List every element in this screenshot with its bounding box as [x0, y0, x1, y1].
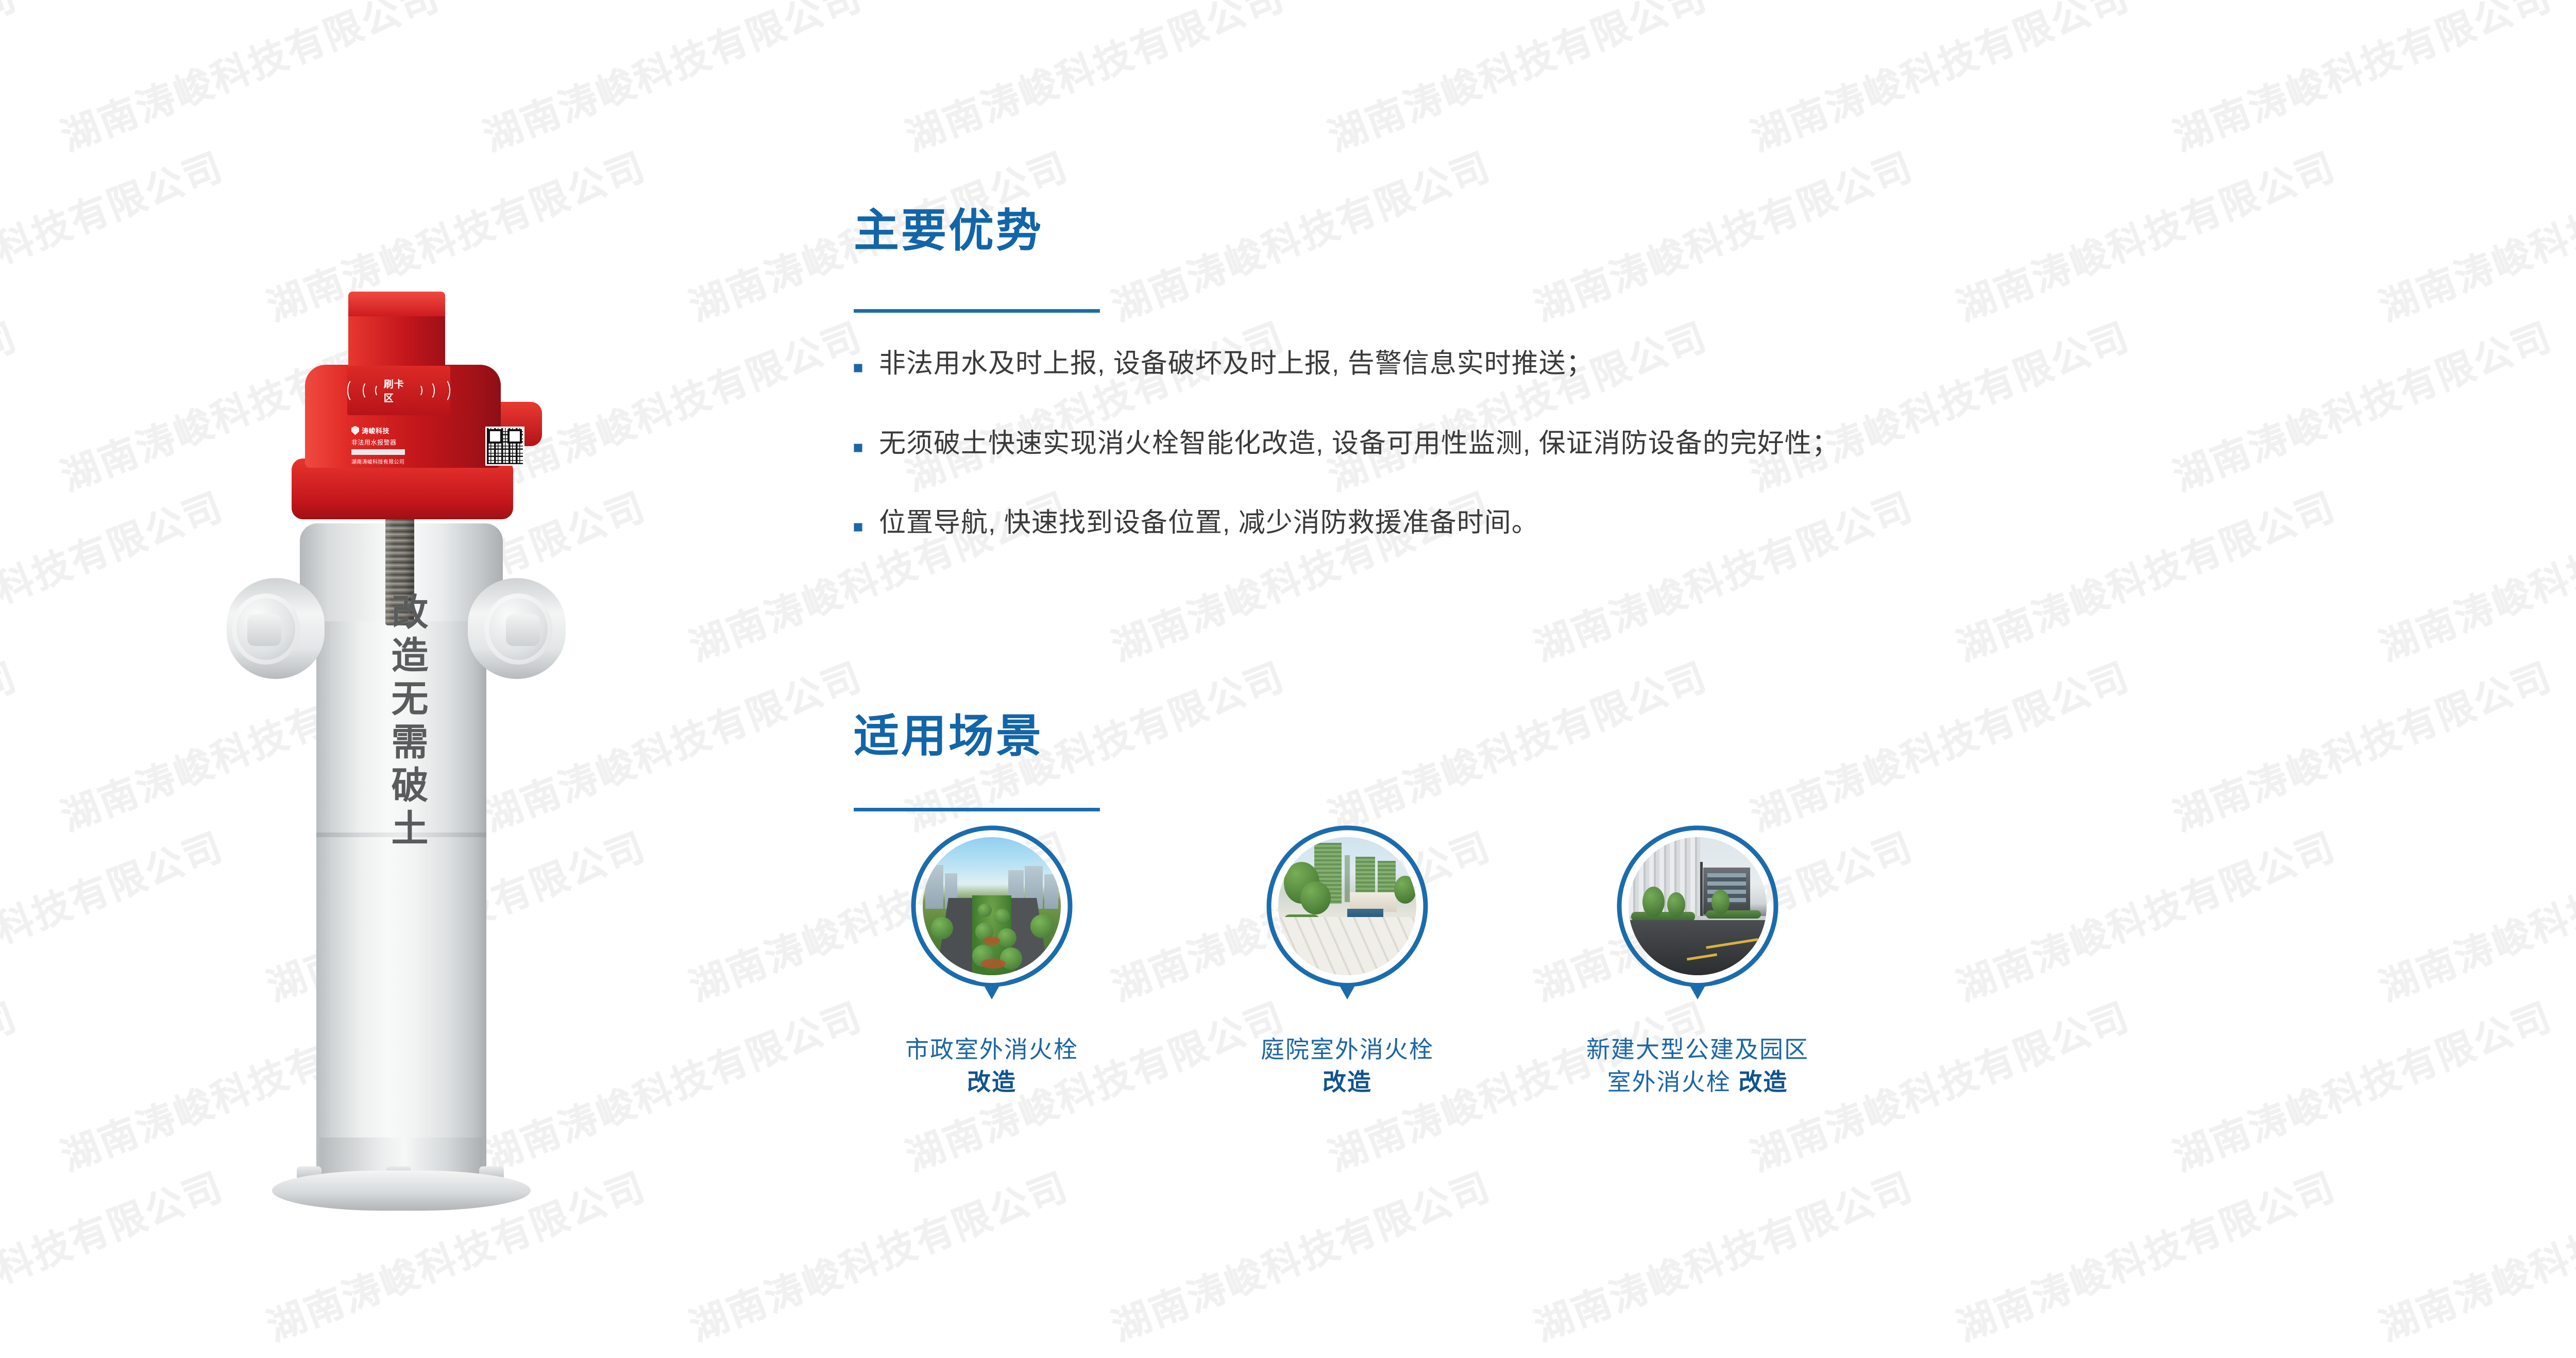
scenario-caption: 新建大型公建及园区 室外消火栓 改造: [1553, 1033, 1842, 1098]
scenario-caption-line1: 新建大型公建及园区: [1553, 1033, 1842, 1066]
scenario-caption-line2-prefix: 室外消火栓: [1607, 1068, 1731, 1095]
scenario-card-municipal[interactable]: 市政室外消火栓 改造: [848, 824, 1136, 1098]
advantages-list: 非法用水及时上报, 设备破坏及时上报, 告警信息实时推送； 无须破土快速实现消火…: [854, 346, 2348, 585]
device-brand: 涛峻科技: [362, 426, 389, 435]
list-item: 无须破土快速实现消火栓智能化改造, 设备可用性监测, 保证消防设备的完好性；: [854, 426, 2348, 462]
scenario-caption-line2: 室外消火栓 改造: [1553, 1066, 1842, 1098]
scenario-caption-line1: 庭院室外消火栓: [1203, 1033, 1492, 1066]
hydrant-illustration: 刷卡区 涛峻科技 非法用水报警器 湖南涛峻科技有限公司 改造无需破土: [170, 196, 623, 1195]
map-pin-marker: [1616, 824, 1780, 1016]
advantages-divider: [854, 309, 1100, 313]
watermark-text: 湖南涛峻科技有限公司: [474, 0, 870, 161]
device-company: 湖南涛峻科技有限公司: [351, 457, 485, 465]
advantage-text: 非法用水及时上报, 设备破坏及时上报, 告警信息实时推送；: [879, 346, 1594, 382]
map-pin-marker: [910, 824, 1074, 1016]
scenarios-list: 市政室外消火栓 改造: [853, 824, 1986, 1195]
scenario-card-courtyard[interactable]: 庭院室外消火栓 改造: [1203, 824, 1492, 1098]
advantage-text: 位置导航, 快速找到设备位置, 减少消防救援准备时间。: [879, 505, 1539, 541]
scenario-caption-line2-bold: 改造: [1738, 1068, 1788, 1095]
product-image: 刷卡区 涛峻科技 非法用水报警器 湖南涛峻科技有限公司 改造无需破土: [170, 196, 623, 1195]
scenario-photo-courtyard: [1278, 837, 1416, 975]
brand-shield-icon: [351, 426, 359, 435]
card-swipe-panel: 刷卡区: [347, 366, 450, 415]
scenario-card-campus[interactable]: 新建大型公建及园区 室外消火栓 改造: [1553, 824, 1842, 1098]
rfid-wave-right-inner-icon: [415, 384, 422, 397]
rfid-wave-right-outer-icon: [436, 378, 450, 403]
scenario-caption-line1: 市政室外消火栓: [848, 1033, 1136, 1066]
list-item: 非法用水及时上报, 设备破坏及时上报, 告警信息实时推送；: [854, 346, 2348, 382]
advantage-text: 无须破土快速实现消火栓智能化改造, 设备可用性监测, 保证消防设备的完好性；: [879, 426, 1839, 462]
bullet-square-icon: [854, 523, 862, 532]
watermark-text: 湖南涛峻科技有限公司: [0, 306, 24, 501]
bullet-square-icon: [854, 364, 862, 372]
watermark-text: 湖南涛峻科技有限公司: [0, 0, 24, 161]
scenario-caption-line2: 改造: [848, 1066, 1136, 1098]
device-serial-bar: [351, 449, 405, 455]
rfid-wave-left-outer-icon: [347, 378, 361, 403]
watermark-text: 湖南涛峻科技有限公司: [52, 0, 447, 161]
map-pin-marker: [1265, 824, 1429, 1016]
bullet-square-icon: [854, 444, 862, 452]
rfid-wave-right-mid-icon: [424, 381, 435, 400]
device-antenna-lid: [348, 292, 445, 316]
advantages-title: 主要优势: [854, 208, 1043, 253]
hydrant-outlet-nut-left: [247, 614, 281, 646]
scenarios-title: 适用场景: [854, 714, 1043, 759]
list-item: 位置导航, 快速找到设备位置, 减少消防救援准备时间。: [854, 505, 2348, 541]
hydrant-outlet-nut-right: [506, 614, 540, 646]
rfid-wave-left-inner-icon: [375, 384, 382, 397]
scenario-caption-line2: 改造: [1203, 1066, 1492, 1098]
watermark-text: 湖南涛峻科技有限公司: [0, 646, 24, 841]
device-product-name: 非法用水报警器: [351, 438, 485, 447]
scenario-caption: 市政室外消火栓 改造: [848, 1033, 1136, 1098]
device-nameplate: 涛峻科技 非法用水报警器 湖南涛峻科技有限公司: [351, 426, 485, 464]
hydrant-flange-base: [272, 1170, 531, 1211]
content-column: 主要优势 非法用水及时上报, 设备破坏及时上报, 告警信息实时推送； 无须破土快…: [853, 0, 2501, 1358]
scenario-photo-municipal: [923, 837, 1061, 975]
barrel-slogan: 改造无需破土: [378, 592, 425, 852]
scenarios-divider: [854, 808, 1100, 811]
qr-code-icon: [485, 427, 524, 466]
watermark-text: 湖南涛峻科技有限公司: [0, 986, 24, 1181]
scenario-photo-campus: [1629, 837, 1767, 975]
scenario-caption: 庭院室外消火栓 改造: [1203, 1033, 1492, 1098]
rfid-wave-left-mid-icon: [363, 381, 374, 400]
card-area-label: 刷卡区: [384, 377, 414, 404]
